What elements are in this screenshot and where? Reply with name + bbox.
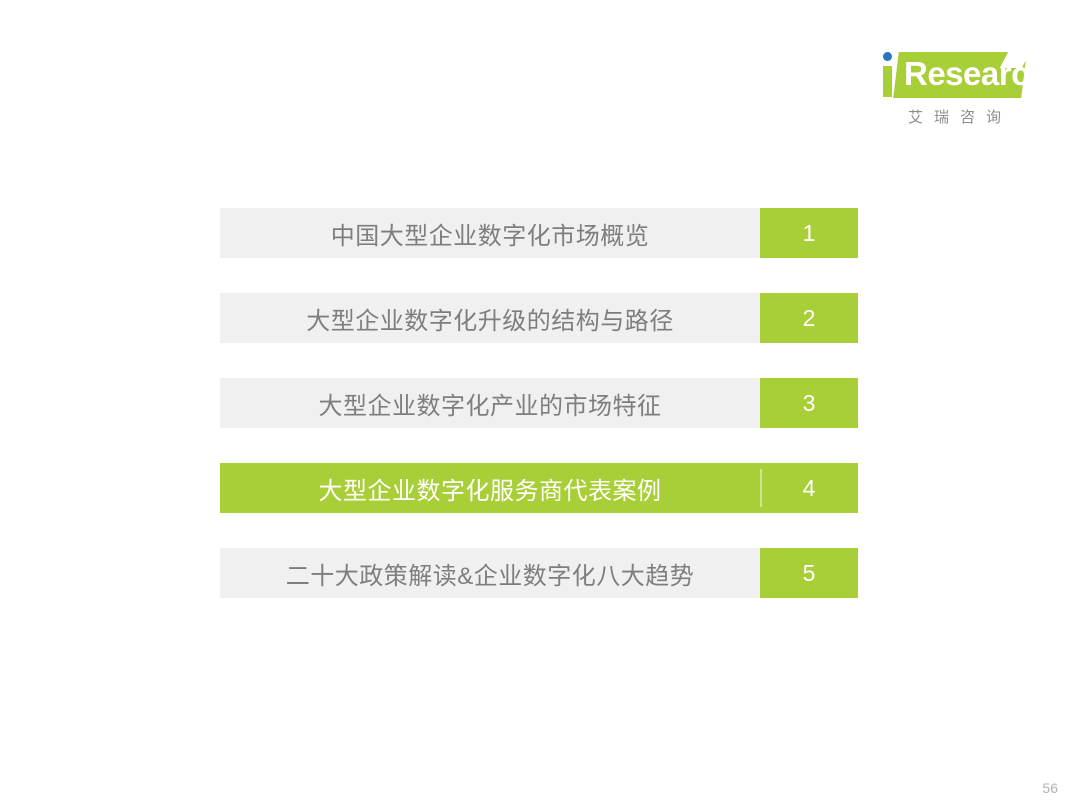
agenda-row-label: 大型企业数字化服务商代表案例 — [220, 463, 760, 513]
logo-i-stem-icon — [883, 66, 892, 97]
slide-canvas: Research 艾瑞咨询 中国大型企业数字化市场概览 1 大型企业数字化升级的… — [0, 0, 1080, 810]
agenda-row[interactable]: 大型企业数字化升级的结构与路径 2 — [220, 293, 858, 343]
agenda-row-active[interactable]: 大型企业数字化服务商代表案例 4 — [220, 463, 858, 513]
agenda-row-number: 3 — [760, 378, 858, 428]
agenda-row-label: 大型企业数字化升级的结构与路径 — [220, 293, 760, 343]
agenda-row-number: 4 — [760, 463, 858, 513]
agenda-row-number: 1 — [760, 208, 858, 258]
agenda-row-label: 中国大型企业数字化市场概览 — [220, 208, 760, 258]
agenda-row-label: 大型企业数字化产业的市场特征 — [220, 378, 760, 428]
agenda-row[interactable]: 二十大政策解读&企业数字化八大趋势 5 — [220, 548, 858, 598]
agenda-row-number: 5 — [760, 548, 858, 598]
logo-i-dot-icon — [883, 52, 892, 61]
logo-wordmark: Research — [904, 55, 1049, 93]
agenda-row-label: 二十大政策解读&企业数字化八大趋势 — [220, 548, 760, 598]
agenda-row[interactable]: 大型企业数字化产业的市场特征 3 — [220, 378, 858, 428]
agenda-row[interactable]: 中国大型企业数字化市场概览 1 — [220, 208, 858, 258]
page-number: 56 — [1042, 780, 1058, 796]
logo-mark: Research — [872, 46, 1032, 104]
agenda-row-number: 2 — [760, 293, 858, 343]
logo-chinese-name: 艾瑞咨询 — [890, 106, 1030, 127]
agenda-list: 中国大型企业数字化市场概览 1 大型企业数字化升级的结构与路径 2 大型企业数字… — [220, 208, 858, 598]
iresearch-logo: Research 艾瑞咨询 — [872, 46, 1032, 138]
